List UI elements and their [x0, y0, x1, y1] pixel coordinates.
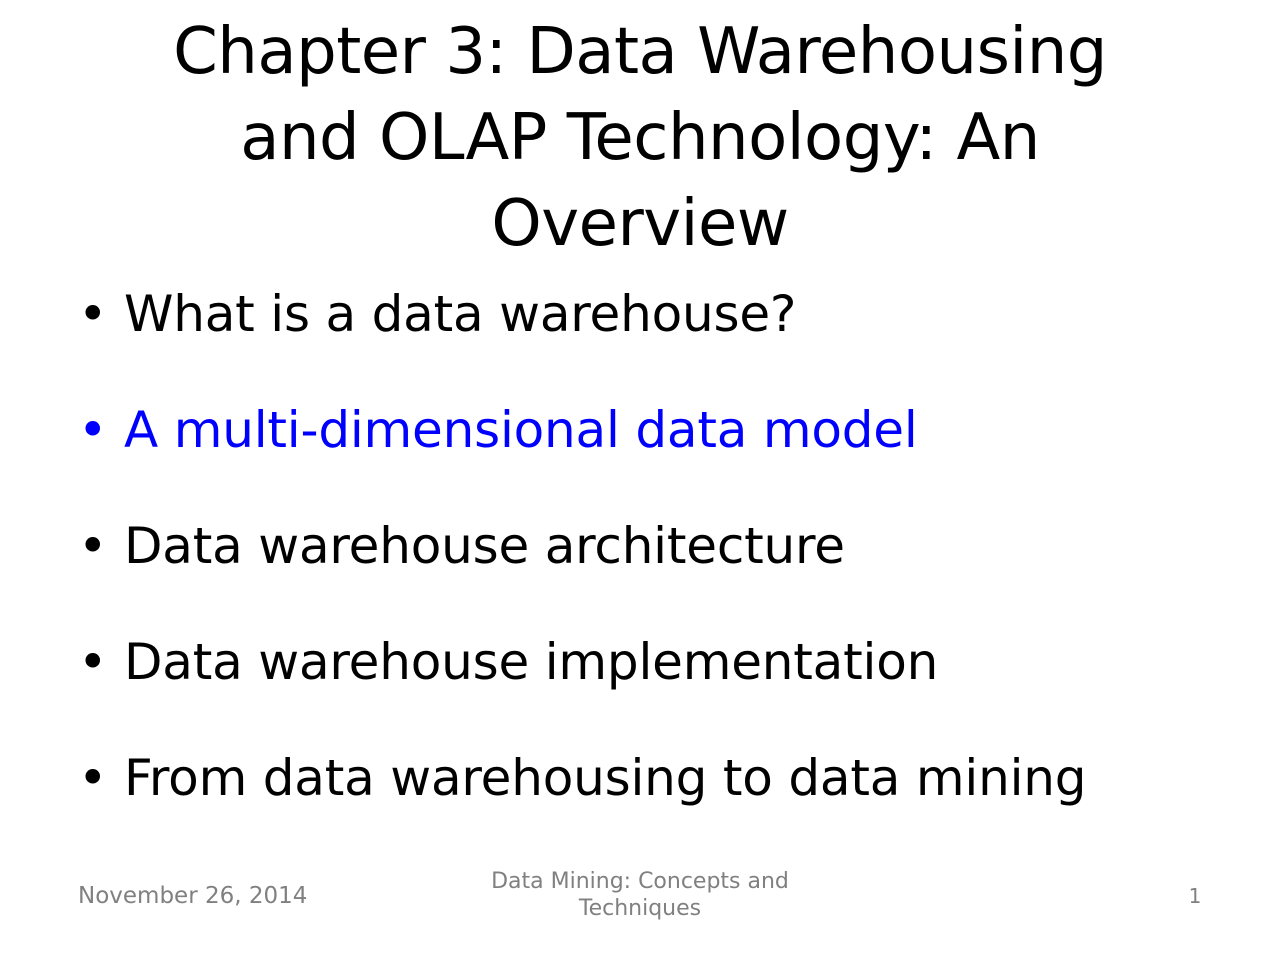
bullet-point-icon: •: [76, 510, 124, 582]
bullet-item-5[interactable]: • From data warehousing to data mining: [76, 742, 1216, 858]
bullet-point-icon: •: [76, 394, 124, 466]
bullet-item-4[interactable]: • Data warehouse implementation: [76, 626, 1216, 742]
bullet-item-1[interactable]: • What is a data warehouse?: [76, 278, 1216, 394]
bullet-point-icon: •: [76, 742, 124, 814]
bullet-item-label: From data warehousing to data mining: [124, 742, 1216, 814]
bullet-item-label: Data warehouse implementation: [124, 626, 1216, 698]
bullet-item-3[interactable]: • Data warehouse architecture: [76, 510, 1216, 626]
bullet-item-label: A multi-dimensional data model: [124, 394, 1216, 466]
slide-footer: November 26, 2014 Data Mining: Concepts …: [0, 864, 1280, 960]
slide-title: Chapter 3: Data Warehousing and OLAP Tec…: [60, 9, 1220, 267]
bullet-item-label: What is a data warehouse?: [124, 278, 1216, 350]
bullet-point-icon: •: [76, 278, 124, 350]
bullet-list: • What is a data warehouse? • A multi-di…: [76, 278, 1216, 858]
slide-canvas: Chapter 3: Data Warehousing and OLAP Tec…: [0, 0, 1280, 960]
bullet-point-icon: •: [76, 626, 124, 698]
footer-date: November 26, 2014: [78, 882, 307, 910]
bullet-item-label: Data warehouse architecture: [124, 510, 1216, 582]
footer-page-number: 1: [1150, 882, 1240, 910]
footer-book-title: Data Mining: Concepts and Techniques: [440, 868, 840, 922]
bullet-item-2[interactable]: • A multi-dimensional data model: [76, 394, 1216, 510]
